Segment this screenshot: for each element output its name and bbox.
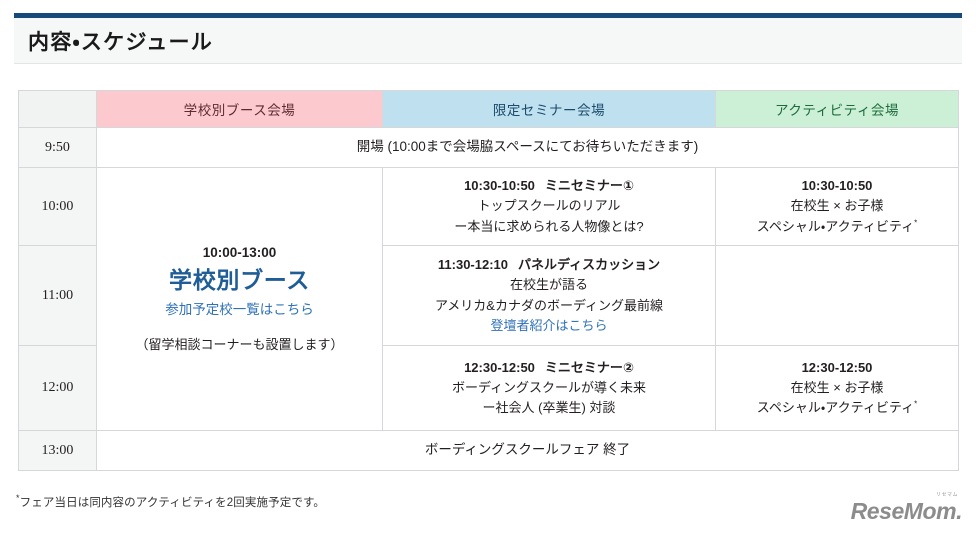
seminar-time-range-3: 12:30-12:50: [464, 360, 535, 375]
open-announcement-text: 開場 (10:00まで会場脇スペースにてお待ちいただきます): [357, 139, 699, 154]
activity-line2-3: スペシャル・アクティビティ*: [716, 398, 958, 418]
column-header-seminar: 限定セミナー会場: [383, 91, 716, 128]
schedule-table: 学校別ブース会場 限定セミナー会場 アクティビティ会場 9:50 開場 (10:…: [18, 90, 959, 471]
seminar-label-2: パネルディスカッション: [518, 257, 660, 272]
open-announcement-cell: 開場 (10:00まで会場脇スペースにてお待ちいただきます): [97, 128, 959, 168]
seminar-cell-1: 10:30-10:50ミニセミナー① トップスクールのリアル ー本当に求められる…: [383, 168, 716, 246]
activity-line1-1: 在校生 × お子様: [716, 196, 958, 216]
time-label-1000: 10:00: [19, 168, 97, 246]
booth-school-list-link[interactable]: 参加予定校一覧はこちら: [97, 300, 382, 321]
page-title: 内容・スケジュール: [14, 26, 213, 56]
seminar-headline-3: 12:30-12:50ミニセミナー②: [383, 358, 715, 378]
logo-label: ReseMom.: [851, 498, 962, 524]
close-announcement-cell: ボーディングスクールフェア 終了: [97, 431, 959, 471]
close-announcement-text: ボーディングスクールフェア 終了: [425, 442, 630, 457]
table-header-row: 学校別ブース会場 限定セミナー会場 アクティビティ会場: [19, 91, 959, 128]
booth-note: （留学相談コーナーも設置します）: [97, 335, 382, 355]
seminar-speakers-link[interactable]: 登壇者紹介はこちら: [383, 316, 715, 336]
activity-cell-2: [716, 246, 959, 346]
footnote: *フェア当日は同内容のアクティビティを2回実施予定です。: [16, 494, 325, 510]
footnote-text: フェア当日は同内容のアクティビティを2回実施予定です。: [20, 497, 325, 509]
seminar-line1-2: 在校生が語る: [383, 275, 715, 295]
seminar-label-3: ミニセミナー②: [545, 360, 634, 375]
seminar-line1-1: トップスクールのリアル: [383, 196, 715, 216]
seminar-time-range-1: 10:30-10:50: [464, 178, 535, 193]
column-header-activity: アクティビティ会場: [716, 91, 959, 128]
activity-footnote-marker-1: *: [914, 218, 917, 227]
time-label-1300: 13:00: [19, 431, 97, 471]
seminar-line1-3: ボーディングスクールが導く未来: [383, 378, 715, 398]
activity-line1-3: 在校生 × お子様: [716, 378, 958, 398]
activity-footnote-marker-3: *: [914, 400, 917, 409]
schedule-table-wrapper: 学校別ブース会場 限定セミナー会場 アクティビティ会場 9:50 開場 (10:…: [18, 90, 958, 471]
booth-title: 学校別ブース: [97, 266, 382, 296]
logo-ruby-text: リセマム: [936, 493, 958, 498]
booth-cell: 10:00-13:00 学校別ブース 参加予定校一覧はこちら （留学相談コーナー…: [97, 168, 383, 431]
seminar-line2-2: アメリカ&カナダのボーディング最前線: [383, 296, 715, 316]
seminar-headline-2: 11:30-12:10パネルディスカッション: [383, 255, 715, 275]
resemom-logo: リセマムReseMom.: [846, 500, 962, 528]
seminar-cell-3: 12:30-12:50ミニセミナー② ボーディングスクールが導く未来 ー社会人 …: [383, 346, 716, 431]
seminar-time-range-2: 11:30-12:10: [438, 257, 508, 272]
seminar-line2-3: ー社会人 (卒業生) 対談: [383, 398, 715, 418]
seminar-label-1: ミニセミナー①: [545, 178, 634, 193]
time-label-1200: 12:00: [19, 346, 97, 431]
activity-time-range-3: 12:30-12:50: [716, 358, 958, 378]
activity-line2-text-3: スペシャル・アクティビティ: [757, 400, 914, 415]
activity-cell-1: 10:30-10:50 在校生 × お子様 スペシャル・アクティビティ*: [716, 168, 959, 246]
activity-line2-1: スペシャル・アクティビティ*: [716, 217, 958, 237]
activity-line2-text-1: スペシャル・アクティビティ: [757, 219, 914, 234]
activity-time-range-1: 10:30-10:50: [716, 176, 958, 196]
seminar-headline-1: 10:30-10:50ミニセミナー①: [383, 176, 715, 196]
activity-cell-3: 12:30-12:50 在校生 × お子様 スペシャル・アクティビティ*: [716, 346, 959, 431]
seminar-cell-2: 11:30-12:10パネルディスカッション 在校生が語る アメリカ&カナダのボ…: [383, 246, 716, 346]
section-header: 内容・スケジュール: [14, 18, 962, 64]
table-row: 9:50 開場 (10:00まで会場脇スペースにてお待ちいただきます): [19, 128, 959, 168]
time-label-1100: 11:00: [19, 246, 97, 346]
booth-time-range: 10:00-13:00: [97, 243, 382, 264]
logo-wordmark: リセマムReseMom.: [851, 500, 962, 523]
column-header-time: [19, 91, 97, 128]
column-header-booth: 学校別ブース会場: [97, 91, 383, 128]
table-row: 13:00 ボーディングスクールフェア 終了: [19, 431, 959, 471]
time-label-0950: 9:50: [19, 128, 97, 168]
table-row: 10:00 10:00-13:00 学校別ブース 参加予定校一覧はこちら （留学…: [19, 168, 959, 246]
seminar-line2-1: ー本当に求められる人物像とは?: [383, 217, 715, 237]
